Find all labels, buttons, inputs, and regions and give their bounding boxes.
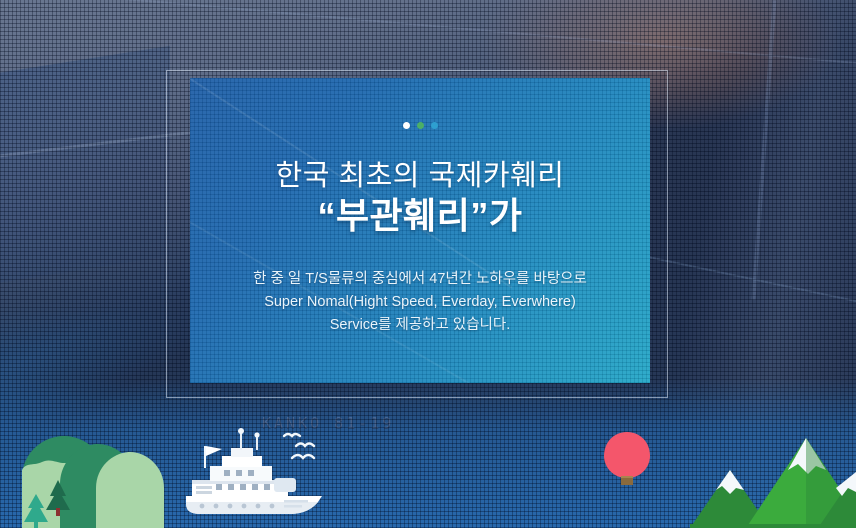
dot-blue[interactable] xyxy=(431,122,438,129)
hero-description-line-3: Service를 제공하고 있습니다. xyxy=(190,314,650,337)
photo-sea xyxy=(0,378,856,528)
hero-description-line-2: Super Nomal(Hight Speed, Everday, Everwh… xyxy=(190,291,650,314)
hero-description: 한 중 일 T/S물류의 중심에서 47년간 노하우를 바탕으로 Super N… xyxy=(190,268,650,337)
hero-banner: KANKO 81-19 한국 최초의 국제카훼리 “부관훼리”가 한 중 일 T… xyxy=(0,0,856,528)
photo-beam-2 xyxy=(121,0,856,64)
dot-green[interactable] xyxy=(417,122,424,129)
dot-white[interactable] xyxy=(403,122,410,129)
photo-structure-left xyxy=(0,46,170,285)
hero-title-line-1: 한국 최초의 국제카훼리 xyxy=(190,159,650,193)
photo-pole xyxy=(752,0,777,300)
hull-lettering: KANKO 81-19 xyxy=(262,414,394,432)
hero-card: 한국 최초의 국제카훼리 “부관훼리”가 한 중 일 T/S물류의 중심에서 4… xyxy=(190,78,650,383)
hero-description-line-1: 한 중 일 T/S물류의 중심에서 47년간 노하우를 바탕으로 xyxy=(190,268,650,291)
slide-indicator-dots[interactable] xyxy=(190,122,650,129)
hero-title-line-2: “부관훼리”가 xyxy=(190,195,650,237)
